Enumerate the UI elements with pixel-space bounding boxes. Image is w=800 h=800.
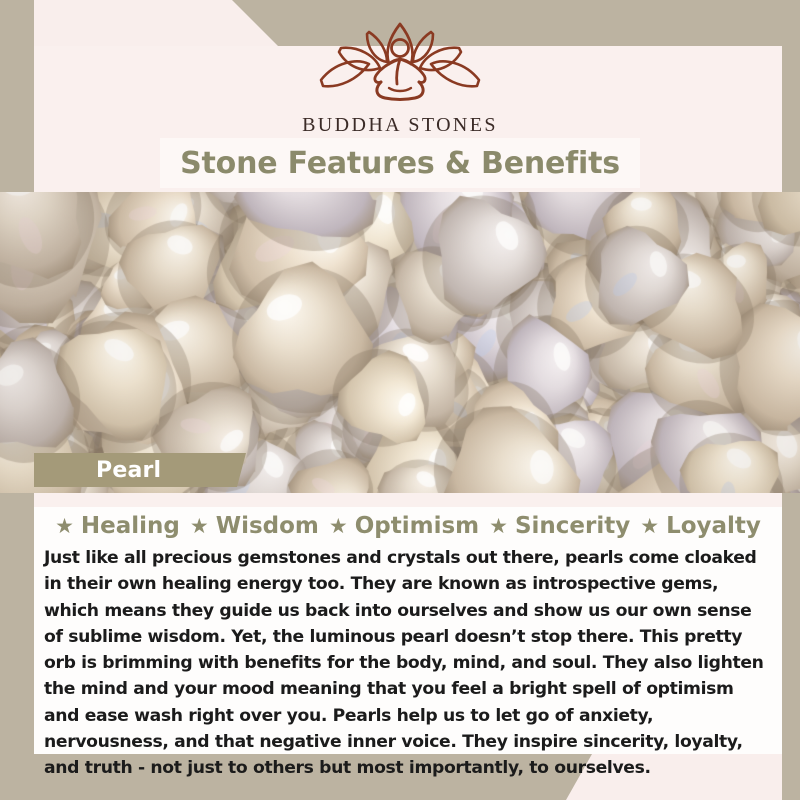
stone-name-label: Pearl: [34, 458, 161, 483]
star-icon: ★: [190, 516, 209, 537]
keyword-label: Healing: [81, 513, 180, 539]
keyword-item-healing: ★ Healing: [55, 513, 180, 539]
keyword-label: Loyalty: [666, 513, 761, 539]
star-icon: ★: [640, 516, 659, 537]
keyword-item-loyalty: ★ Loyalty: [640, 513, 761, 539]
pearl-photo-canvas: [0, 192, 800, 493]
card-top-fade: [34, 493, 782, 507]
stone-name-bar: Pearl: [34, 453, 246, 487]
keyword-item-sincerity: ★ Sincerity: [489, 513, 630, 539]
keyword-label: Optimism: [355, 513, 479, 539]
poster-root: BUDDHA STONES Stone Features & Benefits …: [0, 0, 800, 800]
keyword-label: Sincerity: [515, 513, 630, 539]
brand-logo: BUDDHA STONES: [0, 18, 800, 137]
page-title: Stone Features & Benefits: [180, 146, 620, 181]
keyword-item-wisdom: ★ Wisdom: [190, 513, 319, 539]
keyword-list: ★ Healing ★ Wisdom ★ Optimism ★ Sincerit…: [34, 507, 782, 545]
title-banner: Stone Features & Benefits: [160, 138, 640, 188]
hero-photo: [0, 192, 800, 493]
keyword-item-optimism: ★ Optimism: [329, 513, 479, 539]
star-icon: ★: [55, 516, 74, 537]
star-icon: ★: [329, 516, 348, 537]
description-paragraph: Just like all precious gemstones and cry…: [44, 545, 772, 782]
star-icon: ★: [489, 516, 508, 537]
content-card: ★ Healing ★ Wisdom ★ Optimism ★ Sincerit…: [34, 493, 782, 754]
brand-wordmark: BUDDHA STONES: [0, 114, 800, 137]
lotus-meditation-figure-icon: [305, 18, 495, 110]
keyword-label: Wisdom: [216, 513, 319, 539]
